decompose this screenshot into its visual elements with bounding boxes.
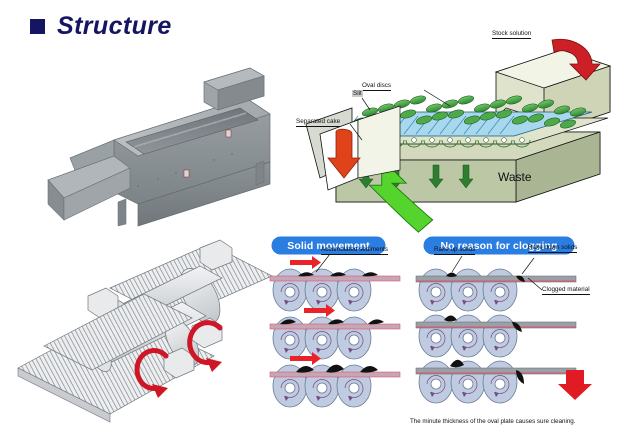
clog-row-2	[416, 315, 576, 357]
clog-down-arrow	[558, 370, 592, 400]
label-slit: Slit	[352, 90, 363, 97]
label-separated-cake: Separated cake	[296, 118, 340, 127]
label-rake-up-solids: Rake up solids	[434, 246, 475, 255]
solid-row-2	[270, 317, 400, 359]
oval-disc-isometric	[14, 250, 276, 430]
solid-movement-diagram: Accumulated sediments	[268, 258, 418, 408]
footer-caption: The minute thickness of the oval plate c…	[410, 418, 575, 425]
label-waste: Waste	[498, 170, 532, 184]
slide-root: Structure	[0, 0, 630, 447]
solid-row-3	[270, 365, 400, 407]
page-title: Structure	[30, 14, 172, 39]
cutaway-diagram: Stock solution Oval discs Slit Separated…	[300, 28, 630, 228]
label-oval-discs: Oval discs	[362, 82, 391, 91]
square-bullet-icon	[30, 19, 45, 34]
solid-row-1	[270, 269, 400, 311]
label-clogged-material: Clogged material	[542, 286, 590, 295]
no-clogging-diagram: Rake up solids Rake down solids Clogged …	[416, 258, 616, 413]
machine-photo	[18, 52, 308, 227]
page-title-text: Structure	[57, 14, 172, 39]
clog-row-3	[416, 360, 576, 403]
label-stock-solution: Stock solution	[492, 30, 531, 39]
label-rake-down-solids: Rake down solids	[528, 244, 577, 253]
label-accumulated-sediments: Accumulated sediments	[321, 246, 388, 255]
